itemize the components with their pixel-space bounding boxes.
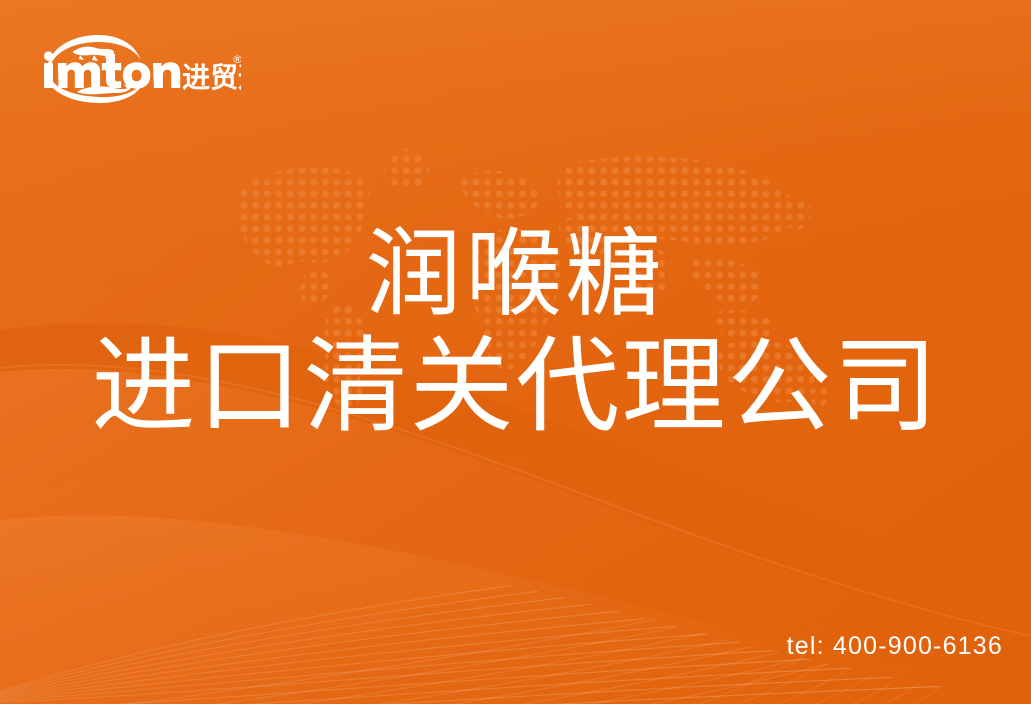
- page-title: 润喉糖 进口清关代理公司: [0, 225, 1031, 441]
- promo-banner: 进贸通 ® 润喉糖 进口清关代理公司 tel: 400-900-6136: [0, 0, 1031, 704]
- logo-wordmark: [44, 51, 180, 88]
- headline-line-1: 润喉糖: [0, 225, 1031, 325]
- logo-trademark-symbol: ®: [232, 53, 241, 66]
- contact-phone[interactable]: tel: 400-900-6136: [787, 632, 1003, 661]
- globe-arc-icon: [48, 35, 141, 64]
- brand-logo-svg: 进贸通 ®: [36, 33, 241, 105]
- brand-logo[interactable]: 进贸通 ®: [36, 33, 241, 105]
- headline-line-2: 进口清关代理公司: [0, 333, 1031, 441]
